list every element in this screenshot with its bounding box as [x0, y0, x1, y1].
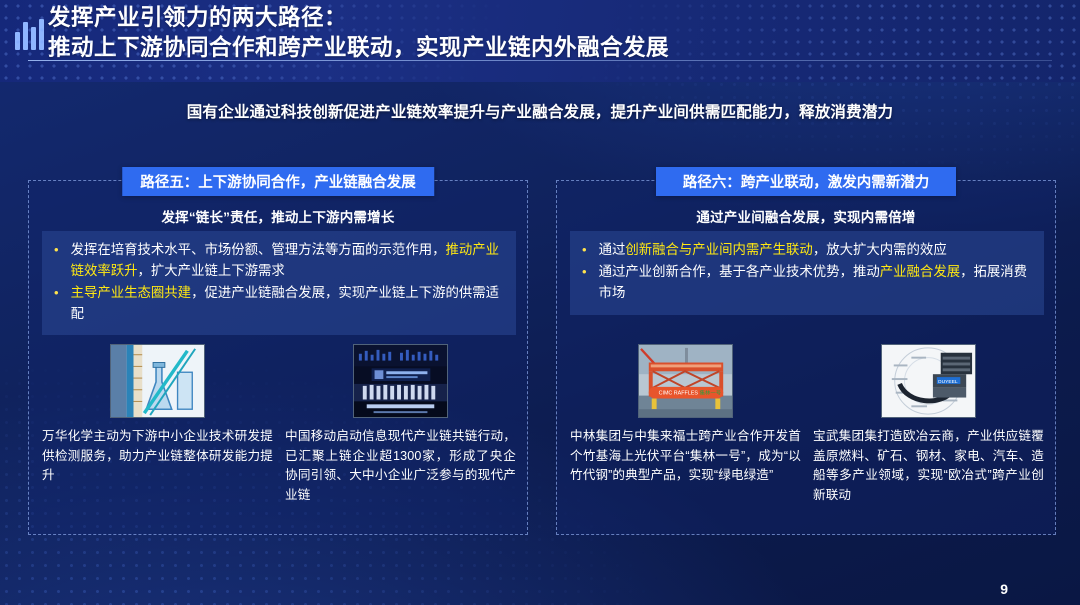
ouyeel-cloud-commerce-diagram-photo: OUYEEL	[881, 344, 976, 418]
page-number: 9	[1000, 581, 1008, 597]
card-caption: 宝武集团集打造欧冶云商，产业供应链覆盖原燃料、矿石、钢材、家电、汽车、造船等多产…	[813, 427, 1044, 505]
plain-phrase: ，放大扩大内需的效应	[813, 242, 947, 257]
header-divider	[28, 60, 1052, 61]
highlighted-phrase: 产业融合发展	[880, 264, 960, 279]
bullet-dot-icon: •	[54, 239, 59, 260]
panel-title: 路径五：上下游协同合作，产业链融合发展	[122, 167, 434, 196]
bullet-dot-icon: •	[582, 261, 587, 282]
plain-phrase: 通过	[599, 242, 626, 257]
bullet-dot-icon: •	[582, 239, 587, 260]
panel-path-six: 路径六：跨产业联动，激发内需新潜力 通过产业间融合发展，实现内需倍增 •通过创新…	[556, 180, 1056, 535]
panel-subtitle: 发挥“链长”责任，推动上下游内需增长	[29, 206, 527, 226]
bullet-item: •主导产业生态圈共建，促进产业链融合发展，实现产业链上下游的供需适配	[54, 282, 504, 324]
slide-canvas: 发挥产业引领力的两大路径： 推动上下游协同合作和跨产业联动，实现产业链内外融合发…	[0, 0, 1080, 605]
example-card: OUYEEL 宝武集团集打造欧冶云商，产业供应链覆盖原燃料、矿石、钢材、家电、汽…	[813, 344, 1044, 524]
bullet-text: 主导产业生态圈共建，促进产业链融合发展，实现产业链上下游的供需适配	[71, 282, 504, 324]
bullet-item: •通过产业创新合作，基于各产业技术优势，推动产业融合发展，拓展消费市场	[582, 261, 1032, 303]
highlighted-phrase: 创新融合与产业间内需产生联动	[625, 242, 812, 257]
example-card: 万华化学主动为下游中小企业技术研发提供检测服务，助力产业链整体研发能力提升	[42, 344, 273, 524]
bullet-list: •通过创新融合与产业间内需产生联动，放大扩大内需的效应•通过产业创新合作，基于各…	[570, 231, 1044, 315]
svg-text:OUYEEL: OUYEEL	[938, 379, 958, 385]
bullet-item: •通过创新融合与产业间内需产生联动，放大扩大内需的效应	[582, 239, 1032, 260]
svg-text:集林一号: 集林一号	[700, 389, 722, 397]
bamboo-offshore-photovoltaic-platform-photo: CIMC RAFFLES 集林一号	[638, 344, 733, 418]
plain-phrase: 通过产业创新合作，基于各产业技术优势，推动	[599, 264, 880, 279]
bullet-dot-icon: •	[54, 282, 59, 303]
bullet-text: 通过产业创新合作，基于各产业技术优势，推动产业融合发展，拓展消费市场	[599, 261, 1032, 303]
slide-header: 发挥产业引领力的两大路径： 推动上下游协同合作和跨产业联动，实现产业链内外融合发…	[0, 0, 1080, 82]
card-caption: 万华化学主动为下游中小企业技术研发提供检测服务，助力产业链整体研发能力提升	[42, 427, 273, 486]
panel-title: 路径六：跨产业联动，激发内需新潜力	[656, 167, 956, 196]
title-line-1: 发挥产业引领力的两大路径：	[48, 3, 669, 33]
subtitle-band: 国有企业通过科技创新促进产业链效率提升与产业融合发展，提升产业间供需匹配能力，释…	[0, 82, 1080, 140]
title-line-2: 推动上下游协同合作和跨产业联动，实现产业链内外融合发展	[48, 33, 669, 63]
plain-phrase: ，扩大产业链上下游需求	[138, 263, 285, 278]
subtitle-text: 国有企业通过科技创新促进产业链效率提升与产业融合发展，提升产业间供需匹配能力，释…	[187, 100, 894, 122]
example-card: 中国移动启动信息现代产业链共链行动，已汇聚上链企业超1300家，形成了央企协同引…	[285, 344, 516, 524]
card-row: 万华化学主动为下游中小企业技术研发提供检测服务，助力产业链整体研发能力提升	[42, 344, 516, 524]
bullet-text: 通过创新融合与产业间内需产生联动，放大扩大内需的效应	[599, 239, 1032, 260]
highlighted-phrase: 主导产业生态圈共建	[71, 285, 192, 300]
plain-phrase: 发挥在培育技术水平、市场份额、管理方法等方面的示范作用，	[71, 242, 446, 257]
bullet-text: 发挥在培育技术水平、市场份额、管理方法等方面的示范作用，推动产业链效率跃升，扩大…	[71, 239, 504, 281]
laboratory-glassware-photo	[110, 344, 205, 418]
card-row: CIMC RAFFLES 集林一号 中林集团与中集来福士跨产业合作开发首个竹基海…	[570, 344, 1044, 524]
card-caption: 中国移动启动信息现代产业链共链行动，已汇聚上链企业超1300家，形成了央企协同引…	[285, 427, 516, 505]
panel-subtitle: 通过产业间融合发展，实现内需倍增	[557, 206, 1055, 226]
bullet-item: •发挥在培育技术水平、市场份额、管理方法等方面的示范作用，推动产业链效率跃升，扩…	[54, 239, 504, 281]
bar-chart-icon	[15, 12, 49, 50]
china-mobile-conference-stage-photo	[353, 344, 448, 418]
bullet-list: •发挥在培育技术水平、市场份额、管理方法等方面的示范作用，推动产业链效率跃升，扩…	[42, 231, 516, 335]
example-card: CIMC RAFFLES 集林一号 中林集团与中集来福士跨产业合作开发首个竹基海…	[570, 344, 801, 524]
card-caption: 中林集团与中集来福士跨产业合作开发首个竹基海上光伏平台“集林一号”，成为“以竹代…	[570, 427, 801, 486]
page-title: 发挥产业引领力的两大路径： 推动上下游协同合作和跨产业联动，实现产业链内外融合发…	[48, 3, 669, 63]
panel-path-five: 路径五：上下游协同合作，产业链融合发展 发挥“链长”责任，推动上下游内需增长 •…	[28, 180, 528, 535]
svg-text:CIMC RAFFLES: CIMC RAFFLES	[659, 391, 699, 397]
